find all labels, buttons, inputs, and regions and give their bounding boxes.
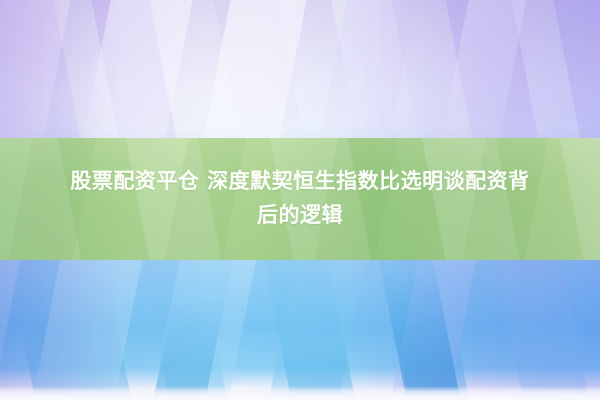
headline-block: 股票配资平仓 深度默契恒生指数比选明谈配资背 后的逻辑 xyxy=(0,138,600,260)
headline-line-2: 后的逻辑 xyxy=(257,201,343,231)
bottom-fade-strip xyxy=(0,386,600,400)
headline-line-1: 股票配资平仓 深度默契恒生指数比选明谈配资背 xyxy=(70,167,529,197)
promo-banner: 股票配资平仓 深度默契恒生指数比选明谈配资背 后的逻辑 xyxy=(0,0,600,400)
